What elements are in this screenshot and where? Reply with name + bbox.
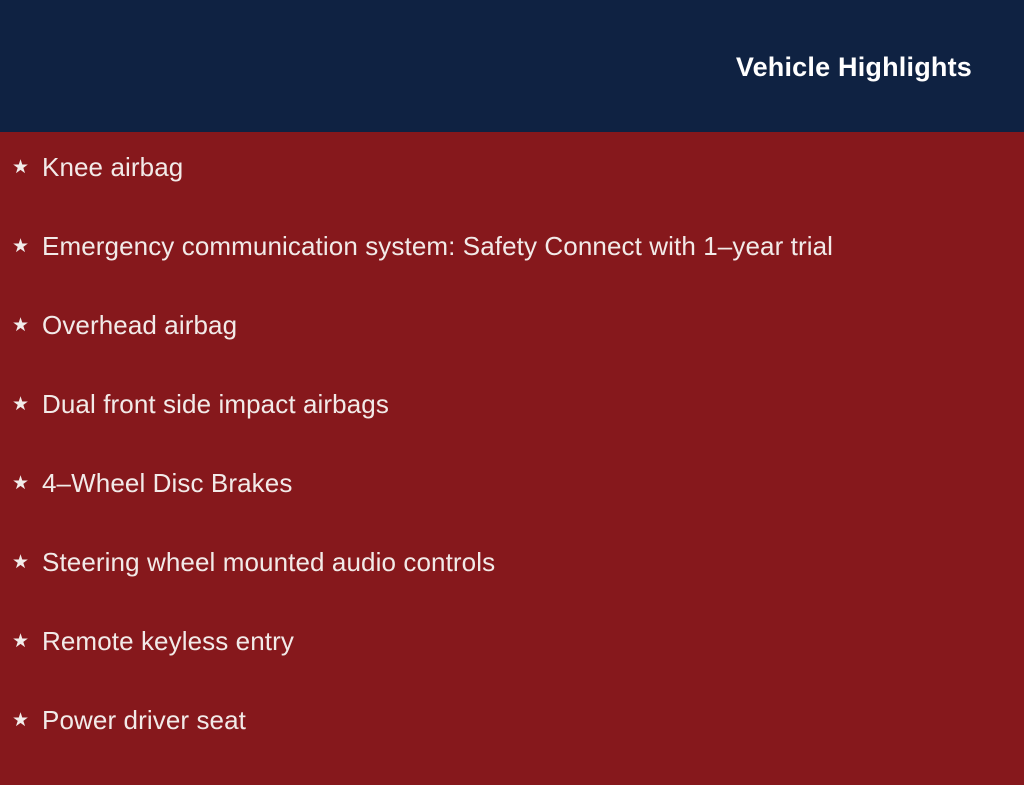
list-item-label: Steering wheel mounted audio controls bbox=[42, 548, 495, 578]
star-icon: ★ bbox=[12, 553, 42, 572]
list-item: ★ Remote keyless entry bbox=[0, 627, 1024, 706]
page-title: Vehicle Highlights bbox=[736, 49, 972, 83]
star-icon: ★ bbox=[12, 158, 42, 177]
list-item: ★ Steering wheel mounted audio controls bbox=[0, 548, 1024, 627]
star-icon: ★ bbox=[12, 474, 42, 493]
star-icon: ★ bbox=[12, 711, 42, 730]
list-item: ★ 4–Wheel Disc Brakes bbox=[0, 469, 1024, 548]
list-item: ★ Overhead airbag bbox=[0, 311, 1024, 390]
list-item: ★ Dual front side impact airbags bbox=[0, 390, 1024, 469]
star-icon: ★ bbox=[12, 237, 42, 256]
star-icon: ★ bbox=[12, 316, 42, 335]
vehicle-highlights-list: ★ Knee airbag ★ Emergency communication … bbox=[0, 132, 1024, 785]
star-icon: ★ bbox=[12, 632, 42, 651]
list-item-label: Remote keyless entry bbox=[42, 627, 294, 657]
slide-vehicle-highlights: Vehicle Highlights ★ Knee airbag ★ Emerg… bbox=[0, 0, 1024, 768]
list-item-label: Power driver seat bbox=[42, 706, 246, 736]
list-item: ★ Knee airbag bbox=[0, 132, 1024, 232]
slide-header: Vehicle Highlights bbox=[0, 0, 1024, 132]
list-item-label: 4–Wheel Disc Brakes bbox=[42, 469, 292, 499]
list-item-label: Emergency communication system: Safety C… bbox=[42, 232, 833, 262]
list-item-label: Knee airbag bbox=[42, 153, 183, 183]
list-item: ★ Emergency communication system: Safety… bbox=[0, 232, 1024, 311]
list-item-label: Overhead airbag bbox=[42, 311, 237, 341]
list-item-label: Dual front side impact airbags bbox=[42, 390, 389, 420]
star-icon: ★ bbox=[12, 395, 42, 414]
slide-body: ★ Knee airbag ★ Emergency communication … bbox=[0, 132, 1024, 768]
list-item: ★ Power driver seat bbox=[0, 706, 1024, 785]
